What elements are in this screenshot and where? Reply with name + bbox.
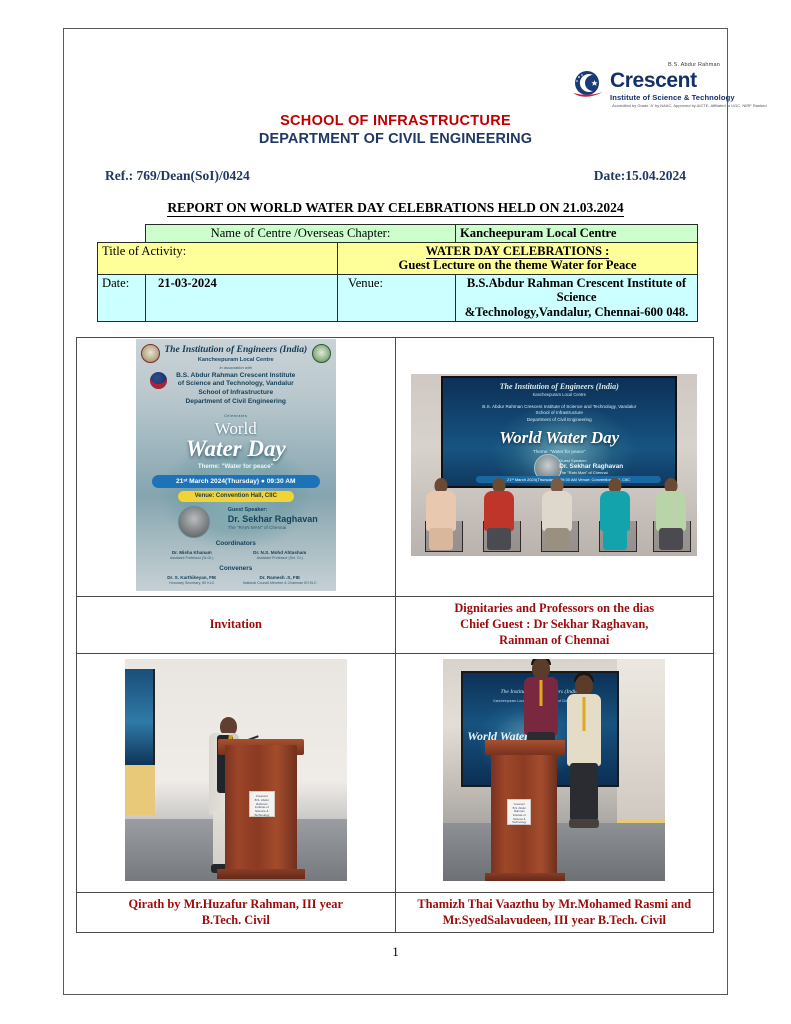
poster-coordinator-2-role: Assistant Professor (Sel. Gr.) <box>234 556 326 561</box>
invitation-poster-image: The Institution of Engineers (India) Kan… <box>136 339 336 591</box>
poster-artwork: The Institution of Engineers (India) Kan… <box>136 339 336 591</box>
student-person <box>561 675 607 865</box>
qirath-photo-cell: Crescent B.S. Abdur Rahman Institute of … <box>77 653 396 892</box>
side-screen <box>125 669 155 765</box>
poster-crescent-line3: School of Infrastructure <box>136 389 336 398</box>
dignitaries-caption-line2: Chief Guest : Dr Sekhar Raghavan, <box>402 617 708 633</box>
activity-value-line1: WATER DAY CELEBRATIONS : <box>342 244 693 259</box>
thamizh-photo-cell: The Institution of Engineers (India) Kan… <box>395 653 714 892</box>
invitation-caption: Invitation <box>83 617 389 633</box>
student-shoes <box>569 819 599 828</box>
poster-crescent-block: B.S. Abdur Rahman Crescent Institute of … <box>136 372 336 408</box>
dignitaries-caption-line1: Dignitaries and Professors on the dias <box>402 601 708 617</box>
qirath-photo-image: Crescent B.S. Abdur Rahman Institute of … <box>125 659 347 881</box>
podium-plaque: Crescent B.S. Abdur Rahman Institute of … <box>507 799 531 825</box>
dignitaries-photo-image: The Institution of Engineers (India) Kan… <box>411 374 697 556</box>
caption-row-top: Invitation Dignitaries and Professors on… <box>77 597 714 654</box>
poster-convener-2-role: National Council Member & Chairman IEI K… <box>234 581 326 586</box>
table-row-date-venue: Date: 21-03-2024 Venue: B.S.Abdur Rahman… <box>98 274 698 321</box>
screen-org-lines: B.S. Abdur Rahman Crescent Institute of … <box>443 404 675 425</box>
qirath-caption-line2: B.Tech. Civil <box>83 913 389 929</box>
screen-line3: B.S. Abdur Rahman Crescent Institute of … <box>443 404 675 411</box>
screen-speaker-block: Guest Speaker: Dr. Sekhar Raghavan The "… <box>559 458 679 475</box>
poster-coordinators-heading: Coordinators <box>136 540 336 547</box>
screen-speaker-name: Dr. Sekhar Raghavan <box>559 463 623 470</box>
poster-institution-title: The Institution of Engineers (India) <box>136 344 336 355</box>
podium-top <box>485 740 565 755</box>
date-label-cell: Date: <box>98 274 146 321</box>
student-head <box>532 659 550 679</box>
venue-value-line1: B.S.Abdur Rahman Crescent Institute of S… <box>460 276 693 305</box>
students-podium-scene: The Institution of Engineers (India) Kan… <box>443 659 665 881</box>
wall <box>617 659 665 819</box>
invitation-poster-cell: The Institution of Engineers (India) Kan… <box>77 338 396 597</box>
logo-subtitle: Institute of Science & Technology <box>610 93 735 102</box>
qirath-caption-cell: Qirath by Mr.Huzafur Rahman, III year B.… <box>77 892 396 933</box>
screen-local-centre: Kancheepuram Local Centre <box>443 392 675 397</box>
school-title: SCHOOL OF INFRASTRUCTURE <box>63 113 728 129</box>
activity-value-line2: Guest Lecture on the theme Water for Pea… <box>342 258 693 273</box>
reference-number: Ref.: 769/Dean(SoI)/0424 <box>105 168 250 184</box>
dignitaries-scene: The Institution of Engineers (India) Kan… <box>411 374 697 556</box>
student-pants <box>570 763 598 821</box>
student-head <box>575 675 593 696</box>
screen-headline: World Water Day <box>443 428 675 448</box>
document-page: B.S. Abdur Rahman Crescent Institute of … <box>0 0 791 1024</box>
podium-plaque: Crescent B.S. Abdur Rahman Institute of … <box>249 791 275 817</box>
page-number: 1 <box>63 944 728 960</box>
screen-line5: Department of Civil Engineering <box>443 417 675 424</box>
poster-local-centre: Kancheepuram Local Centre <box>136 357 336 363</box>
table-row-centre: Name of Centre /Overseas Chapter: Kanche… <box>98 225 698 243</box>
seated-person <box>537 478 577 550</box>
dignitaries-photo-cell: The Institution of Engineers (India) Kan… <box>395 338 714 597</box>
date-value-cell: 21-03-2024 <box>146 274 338 321</box>
document-date: Date:15.04.2024 <box>594 168 686 184</box>
seated-person <box>421 478 461 550</box>
centre-value-cell: Kancheepuram Local Centre <box>456 225 698 243</box>
student-lanyard <box>540 680 543 706</box>
screen-speaker-sub: The "Rain Man" of Chennai <box>559 470 679 475</box>
venue-label-cell: Venue: <box>338 274 456 321</box>
poster-speaker-name: Dr. Sekhar Raghavan <box>228 514 318 524</box>
poster-association: in association with <box>136 365 336 370</box>
activity-value-cell: WATER DAY CELEBRATIONS : Guest Lecture o… <box>338 242 698 274</box>
invitation-caption-cell: Invitation <box>77 597 396 654</box>
seated-person <box>651 478 691 550</box>
poster-theme-text: Theme: "Water for peace" <box>136 463 336 470</box>
poster-speaker-label: Guest Speaker: <box>228 507 268 513</box>
spacer-cell <box>98 225 146 243</box>
poster-crescent-line2: of Science and Technology, Vandalur <box>136 380 336 389</box>
department-title: DEPARTMENT OF CIVIL ENGINEERING <box>63 131 728 147</box>
poster-crescent-line4: Department of Civil Engineering <box>136 398 336 407</box>
poster-waterday-text: Water Day <box>136 436 336 462</box>
logo-wordmark: Crescent <box>610 70 697 91</box>
crescent-emblem-icon <box>572 70 606 100</box>
poster-speaker-sub: The "RAIN MAN" of Chennai <box>228 525 286 530</box>
poster-conveners-heading: Conveners <box>136 565 336 572</box>
activity-label-cell: Title of Activity: <box>98 242 338 274</box>
activity-info-table: Name of Centre /Overseas Chapter: Kanche… <box>97 224 698 322</box>
caption-row-bottom: Qirath by Mr.Huzafur Rahman, III year B.… <box>77 892 714 933</box>
poster-date-bar: 21ˢᵗ March 2024(Thursday) ● 09:30 AM <box>152 475 320 488</box>
qirath-caption-line1: Qirath by Mr.Huzafur Rahman, III year <box>83 897 389 913</box>
venue-value-line2: &Technology,Vandalur, Chennai-600 048. <box>460 305 693 320</box>
centre-label-cell: Name of Centre /Overseas Chapter: <box>146 225 456 243</box>
venue-value-cell: B.S.Abdur Rahman Crescent Institute of S… <box>456 274 698 321</box>
report-title: REPORT ON WORLD WATER DAY CELEBRATIONS H… <box>63 200 728 216</box>
poster-coordinator-1-role: Assistant Professor (Sr.Gr.) <box>146 556 238 561</box>
poster-crescent-line1: B.S. Abdur Rahman Crescent Institute <box>136 372 336 381</box>
poster-speaker-photo <box>178 506 210 538</box>
poster-celebrates: Celebrates <box>136 414 336 418</box>
thamizh-caption-cell: Thamizh Thai Vaazthu by Mr.Mohamed Rasmi… <box>395 892 714 933</box>
photo-row-top: The Institution of Engineers (India) Kan… <box>77 338 714 597</box>
poster-venue-bar: Venue: Convention Hall, CIIC <box>178 491 294 502</box>
screen-line4: School of Infrastructure <box>443 410 675 417</box>
report-title-text: REPORT ON WORLD WATER DAY CELEBRATIONS H… <box>167 200 623 217</box>
dignitaries-caption-line3: Rainman of Chennai <box>402 633 708 649</box>
screen-theme: Theme: "Water for peace" <box>443 449 675 454</box>
seated-person <box>595 478 635 550</box>
logo-accreditation: Accredited by Grade 'A' by NAAC, Approve… <box>612 103 767 108</box>
photo-row-bottom: Crescent B.S. Abdur Rahman Institute of … <box>77 653 714 892</box>
podium-plaque-line3: Institute of Science & Technology <box>250 806 274 817</box>
dignitaries-caption-cell: Dignitaries and Professors on the dias C… <box>395 597 714 654</box>
logo-tagline: B.S. Abdur Rahman <box>668 62 720 68</box>
podium-plaque-line3: Institute of Science & Technology <box>508 814 530 825</box>
screen-institution-title: The Institution of Engineers (India) <box>443 382 675 391</box>
podium-base <box>485 873 565 881</box>
thamizh-caption-line1: Thamizh Thai Vaazthu by Mr.Mohamed Rasmi… <box>402 897 708 913</box>
photo-evidence-grid: The Institution of Engineers (India) Kan… <box>76 337 714 933</box>
podium-base <box>217 869 305 879</box>
thamizh-photo-image: The Institution of Engineers (India) Kan… <box>443 659 665 881</box>
crescent-logo: B.S. Abdur Rahman Crescent Institute of … <box>572 62 720 110</box>
podium-speaker-scene: Crescent B.S. Abdur Rahman Institute of … <box>125 659 347 881</box>
projection-screen: The Institution of Engineers (India) Kan… <box>441 376 677 488</box>
poster-convener-1-role: Honorary Secretary, IEI KLC <box>146 581 238 586</box>
table-row-title: Title of Activity: WATER DAY CELEBRATION… <box>98 242 698 274</box>
seated-person <box>479 478 519 550</box>
thamizh-caption-line2: Mr.SyedSalavudeen, III year B.Tech. Civi… <box>402 913 708 929</box>
wall-accent-strip <box>125 765 155 815</box>
student-lanyard <box>583 697 586 731</box>
